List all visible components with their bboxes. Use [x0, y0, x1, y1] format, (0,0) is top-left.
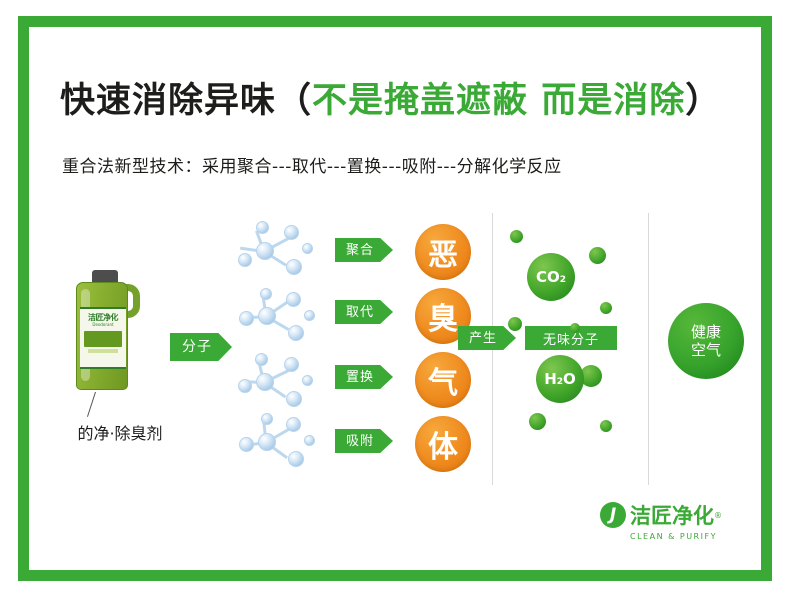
h2o-formula-sub: 2 [557, 377, 563, 387]
page-subtitle: 重合法新型技术：采用聚合---取代---置换---吸附---分解化学反应 [62, 152, 742, 177]
poster-canvas: 快速消除异味（不是掩盖遮蔽 而是消除） 重合法新型技术：采用聚合---取代---… [0, 0, 790, 597]
arrow-step-3: 置换 [335, 365, 393, 389]
molecule-cluster-4 [238, 411, 322, 477]
process-diagram: 洁匠净化 Deodorant 的净·除臭剂 分子 [40, 205, 750, 495]
healthy-air-line1: 健康 [691, 323, 721, 341]
odor-char-circle-3: 气 [415, 352, 471, 408]
co2-formula-sub: 2 [560, 275, 566, 285]
molecule-atom [238, 253, 252, 267]
odor-char-circle-4: 体 [415, 416, 471, 472]
co2-formula-main: CO [536, 268, 560, 286]
healthy-air-circle: 健康 空气 [668, 303, 744, 379]
brand-tagline: CLEAN & PURIFY [630, 532, 750, 541]
molecule-atom [302, 375, 313, 386]
molecule-cluster-1 [238, 217, 322, 283]
page-title: 快速消除异味（不是掩盖遮蔽 而是消除） [60, 72, 740, 123]
arrow-produce: 产生 [458, 326, 516, 350]
h2o-formula-tail: O [563, 370, 576, 388]
molecule-atom [255, 353, 268, 366]
brand-mark-icon: J [600, 502, 626, 528]
molecule-atom [256, 221, 269, 234]
molecule-atom [239, 437, 254, 452]
bottle-body: 洁匠净化 Deodorant [76, 282, 128, 390]
molecule-atom [258, 307, 276, 325]
molecule-atom [258, 433, 276, 451]
odor-char-circle-1: 恶 [415, 224, 471, 280]
molecule-atom [304, 435, 315, 446]
bottle-color-strip-small [88, 349, 118, 353]
headline-plain-part: 快速消除异味（ [60, 81, 312, 121]
arrow-molecule: 分子 [170, 333, 232, 361]
molecule-atom [286, 417, 301, 432]
healthy-air-line2: 空气 [691, 341, 721, 359]
molecule-atom [256, 373, 274, 391]
arrow-step-2: 取代 [335, 300, 393, 324]
molecule-atom [260, 288, 272, 300]
headline-tail-part: ） [685, 81, 721, 121]
bottle-color-strip [84, 331, 122, 347]
bottle-label: 洁匠净化 Deodorant [80, 307, 126, 369]
green-bubble-small [529, 413, 546, 430]
molecule-atom [286, 259, 302, 275]
h2o-bubble: H2O [536, 355, 584, 403]
molecule-cluster-3 [238, 347, 322, 413]
molecule-atom [286, 292, 301, 307]
green-bubble-small [508, 317, 522, 331]
green-bubble-small [600, 302, 612, 314]
molecule-atom [288, 451, 304, 467]
molecule-atom [302, 243, 313, 254]
h2o-formula-main: H [544, 370, 557, 388]
registered-trademark-icon: ® [714, 511, 722, 520]
molecule-atom [239, 311, 254, 326]
product-caption: 的净·除臭剂 [50, 420, 190, 444]
callout-line [87, 392, 96, 417]
product-bottle: 洁匠净化 Deodorant 的净·除臭剂 [68, 270, 158, 405]
molecule-atom [284, 225, 299, 240]
green-bubble-small [589, 247, 606, 264]
co2-bubble: CO2 [527, 253, 575, 301]
brand-logo: J 洁匠净化 ® CLEAN & PURIFY [600, 500, 750, 541]
green-bubble-small [570, 323, 580, 333]
molecule-atom [304, 310, 315, 321]
bottle-subtext-en: Deodorant [80, 322, 126, 328]
brand-name: 洁匠净化 [630, 500, 714, 530]
brand-logo-row: J 洁匠净化 ® [600, 500, 750, 530]
molecule-cluster-2 [238, 283, 322, 349]
molecule-atom [286, 391, 302, 407]
panel-divider-right [648, 213, 649, 485]
molecule-atom [284, 357, 299, 372]
frame-top-border [18, 16, 772, 27]
headline-green-part: 不是掩盖遮蔽 而是消除 [312, 81, 685, 121]
bottle-brand-text: 洁匠净化 [80, 313, 126, 322]
green-bubble-small [510, 230, 523, 243]
frame-right-border [761, 16, 772, 581]
frame-left-border [18, 16, 29, 581]
molecule-atom [261, 413, 273, 425]
green-bubble-small [600, 420, 612, 432]
molecule-atom [288, 325, 304, 341]
arrow-step-1: 聚合 [335, 238, 393, 262]
molecule-atom [256, 242, 274, 260]
frame-bottom-border [18, 570, 772, 581]
molecule-atom [238, 379, 252, 393]
arrow-step-4: 吸附 [335, 429, 393, 453]
